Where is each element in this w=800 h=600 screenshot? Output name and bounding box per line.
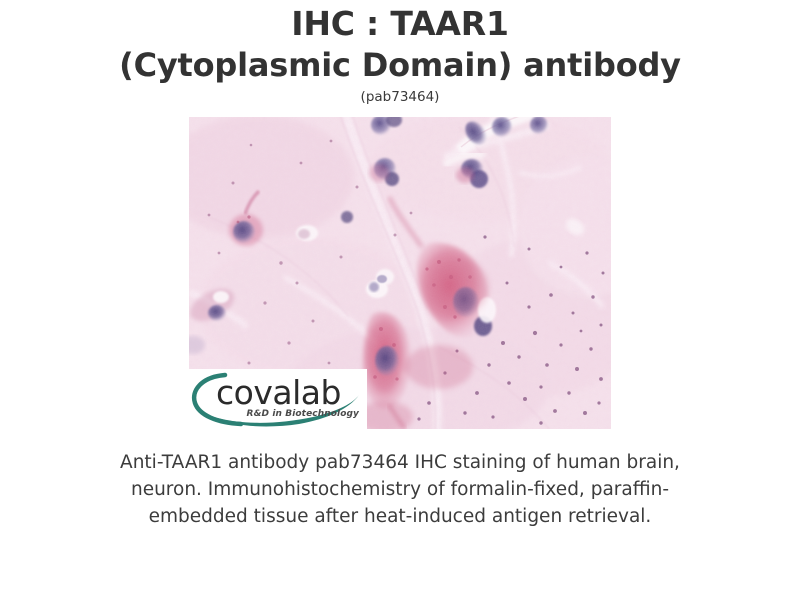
figure-caption: Anti-TAAR1 antibody pab73464 IHC stainin…: [95, 449, 705, 530]
page-title-line-2: (Cytoplasmic Domain) antibody: [20, 44, 780, 86]
figure: covalab R&D in Biotechnology: [189, 117, 611, 429]
covalab-logo: covalab R&D in Biotechnology: [189, 369, 367, 429]
title-block: IHC : TAAR1 (Cytoplasmic Domain) antibod…: [20, 0, 780, 106]
covalab-wordmark: covalab: [216, 375, 341, 411]
product-image-page: IHC : TAAR1 (Cytoplasmic Domain) antibod…: [0, 0, 800, 600]
page-title-line-1: IHC : TAAR1: [20, 4, 780, 44]
catalog-number: (pab73464): [20, 88, 780, 106]
covalab-tagline: R&D in Biotechnology: [247, 409, 359, 420]
